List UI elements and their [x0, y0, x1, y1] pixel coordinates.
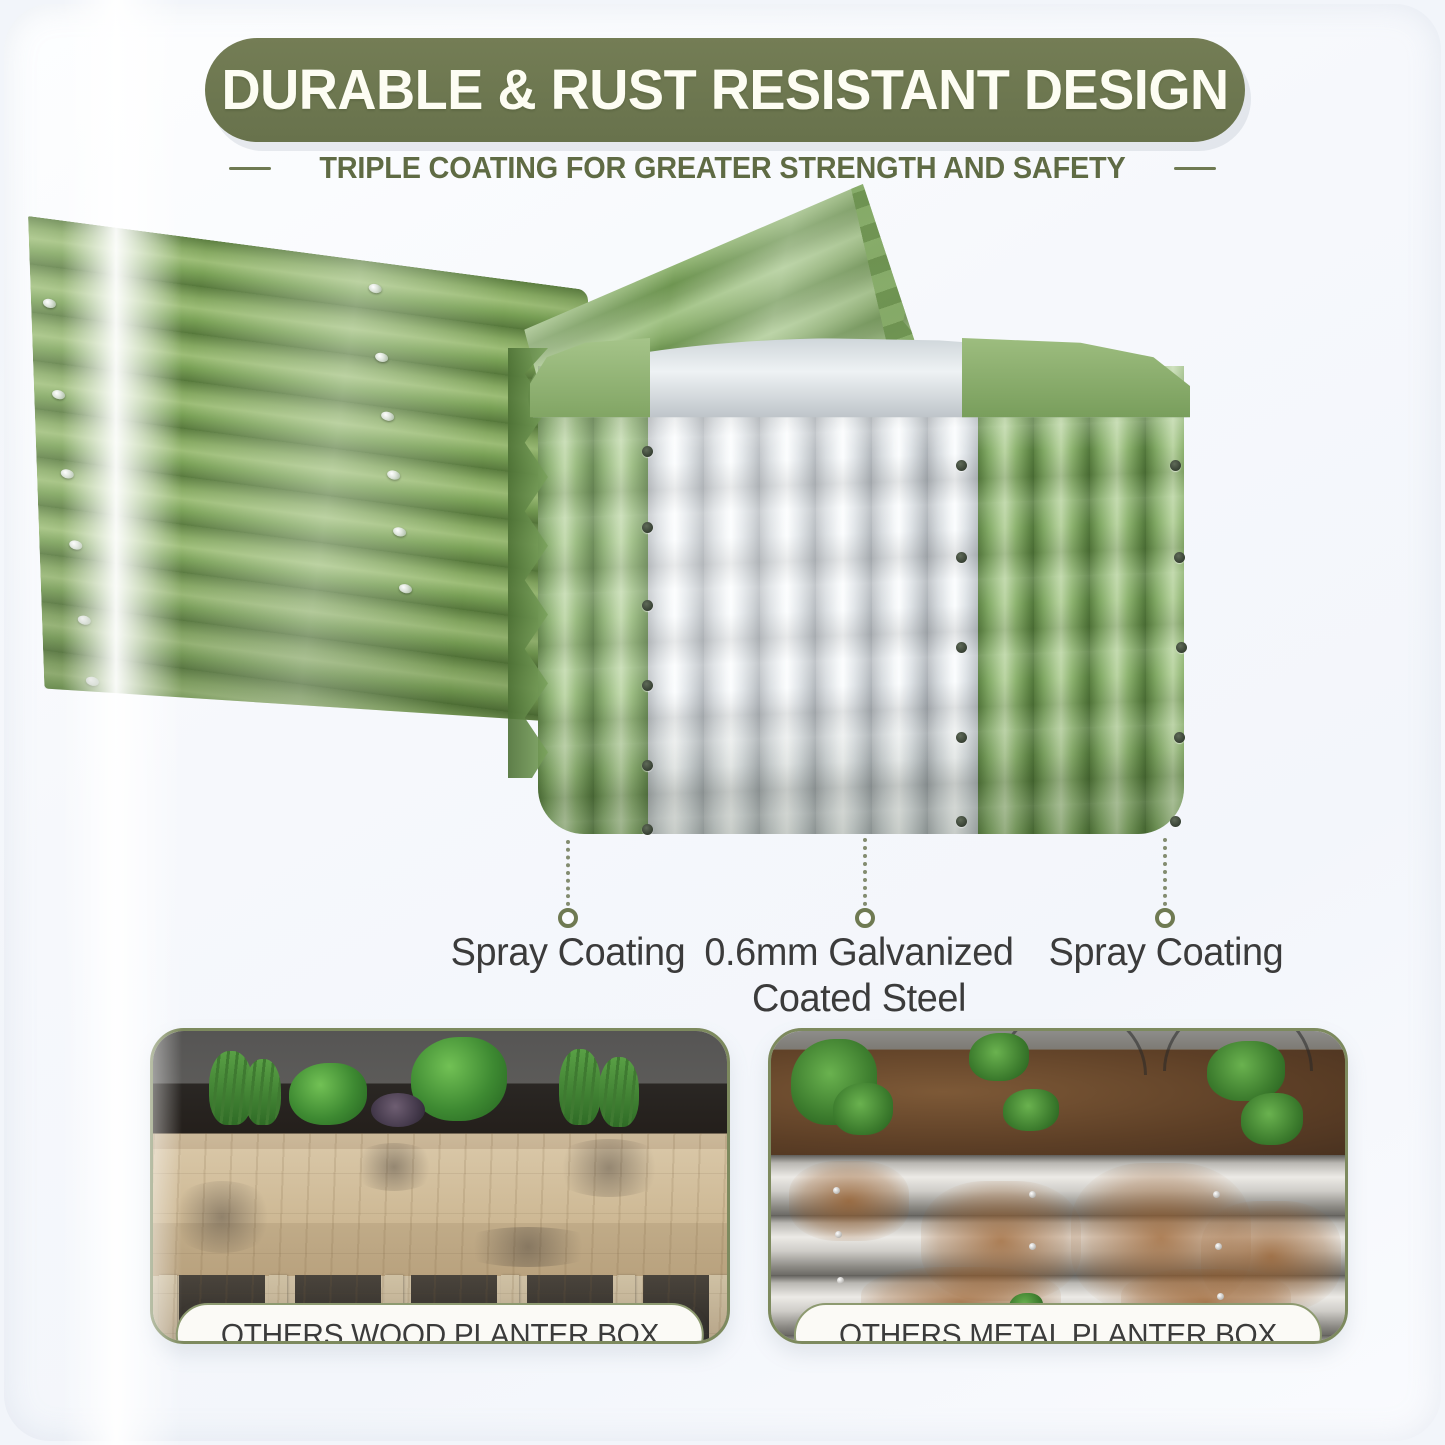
- rivet-icon: [1029, 1243, 1036, 1250]
- rivet-icon: [642, 760, 653, 771]
- metal-planter-photo: [771, 1031, 1345, 1341]
- spray-coating-right-section: [978, 366, 1184, 834]
- rivet-icon: [956, 460, 967, 471]
- rivet-icon: [1174, 552, 1185, 563]
- rivet-icon: [956, 552, 967, 563]
- wood-planter-photo: [153, 1031, 727, 1341]
- rivet-icon: [1170, 816, 1181, 827]
- callout-label: Spray Coating: [1009, 930, 1323, 976]
- headline-banner: DURABLE & RUST RESISTANT DESIGN: [205, 38, 1245, 142]
- card-caption: OTHERS WOOD PLANTER BOX: [221, 1317, 659, 1344]
- wood-stain: [453, 1227, 603, 1267]
- callout-label: 0.6mm Galvanized Coated Steel: [695, 930, 1023, 1022]
- rivet-icon: [642, 446, 653, 457]
- rosemary-plant: [599, 1057, 639, 1127]
- basil-plant: [411, 1037, 507, 1121]
- card-caption-pill: OTHERS WOOD PLANTER BOX: [176, 1303, 704, 1344]
- screw-icon: [43, 298, 56, 309]
- rivet-icon: [833, 1187, 840, 1194]
- pepper-plant: [833, 1083, 893, 1135]
- screw-icon: [69, 540, 82, 551]
- purple-plant: [371, 1093, 425, 1127]
- screw-icon: [399, 583, 412, 594]
- tomato-plant: [1241, 1093, 1303, 1145]
- callout-label: Spray Coating: [411, 930, 725, 976]
- rivet-icon: [642, 680, 653, 691]
- rivet-icon: [956, 642, 967, 653]
- callout-marker-icon: [1155, 908, 1175, 928]
- screw-icon: [387, 470, 400, 481]
- round-raised-bed: [510, 308, 1210, 868]
- screw-icon: [393, 526, 406, 537]
- wood-stain: [167, 1181, 277, 1253]
- rivet-icon: [837, 1277, 844, 1284]
- leader-line: [566, 840, 570, 906]
- rust-stain: [789, 1161, 909, 1241]
- rivet-icon: [956, 732, 967, 743]
- callout-marker-icon: [558, 908, 578, 928]
- rivet-icon: [642, 522, 653, 533]
- basil-plant: [289, 1063, 367, 1125]
- callout-marker-icon: [855, 908, 875, 928]
- screw-icon: [369, 283, 382, 294]
- rosemary-plant: [245, 1059, 281, 1125]
- wood-stain: [549, 1139, 669, 1197]
- subheadline: TRIPLE COATING FOR GREATER STRENGTH AND …: [319, 150, 1125, 186]
- tomato-plant: [1003, 1089, 1059, 1131]
- spray-coating-left-section: [538, 366, 648, 834]
- leader-line: [863, 838, 867, 906]
- rosemary-plant: [559, 1049, 601, 1125]
- galvanized-steel-section: [648, 366, 978, 834]
- screw-icon: [381, 411, 394, 422]
- rivet-icon: [642, 824, 653, 835]
- screw-icon: [86, 676, 99, 687]
- leader-line: [1163, 838, 1167, 906]
- card-caption: OTHERS METAL PLANTER BOX: [839, 1317, 1277, 1344]
- screw-icon: [52, 389, 65, 400]
- rivet-icon: [642, 600, 653, 611]
- page-title: DURABLE & RUST RESISTANT DESIGN: [221, 57, 1228, 123]
- subheadline-row: TRIPLE COATING FOR GREATER STRENGTH AND …: [0, 150, 1445, 186]
- product-illustration: [0, 198, 1445, 928]
- rivet-icon: [1029, 1191, 1036, 1198]
- rule-left-icon: [229, 167, 271, 170]
- wood-stain: [349, 1143, 439, 1191]
- rule-right-icon: [1174, 167, 1216, 170]
- tomato-plant: [1207, 1041, 1285, 1101]
- rivet-icon: [956, 816, 967, 827]
- card-caption-pill: OTHERS METAL PLANTER BOX: [794, 1303, 1322, 1344]
- comparison-cards: OTHERS WOOD PLANTER BOX: [0, 1028, 1445, 1380]
- rivet-icon: [1170, 460, 1181, 471]
- comparison-card-metal[interactable]: OTHERS METAL PLANTER BOX: [768, 1028, 1348, 1344]
- rivet-icon: [1215, 1243, 1222, 1250]
- rivet-icon: [1213, 1191, 1220, 1198]
- infographic-page: DURABLE & RUST RESISTANT DESIGN TRIPLE C…: [0, 0, 1445, 1445]
- rivet-icon: [835, 1231, 842, 1238]
- screw-icon: [78, 615, 91, 626]
- rivet-icon: [1176, 642, 1187, 653]
- comparison-card-wood[interactable]: OTHERS WOOD PLANTER BOX: [150, 1028, 730, 1344]
- rivet-icon: [1217, 1293, 1224, 1300]
- screw-icon: [61, 468, 74, 479]
- screw-icon: [375, 352, 388, 363]
- tomato-plant: [969, 1033, 1029, 1081]
- rivet-icon: [1174, 732, 1185, 743]
- bed-front-wall: [538, 366, 1184, 834]
